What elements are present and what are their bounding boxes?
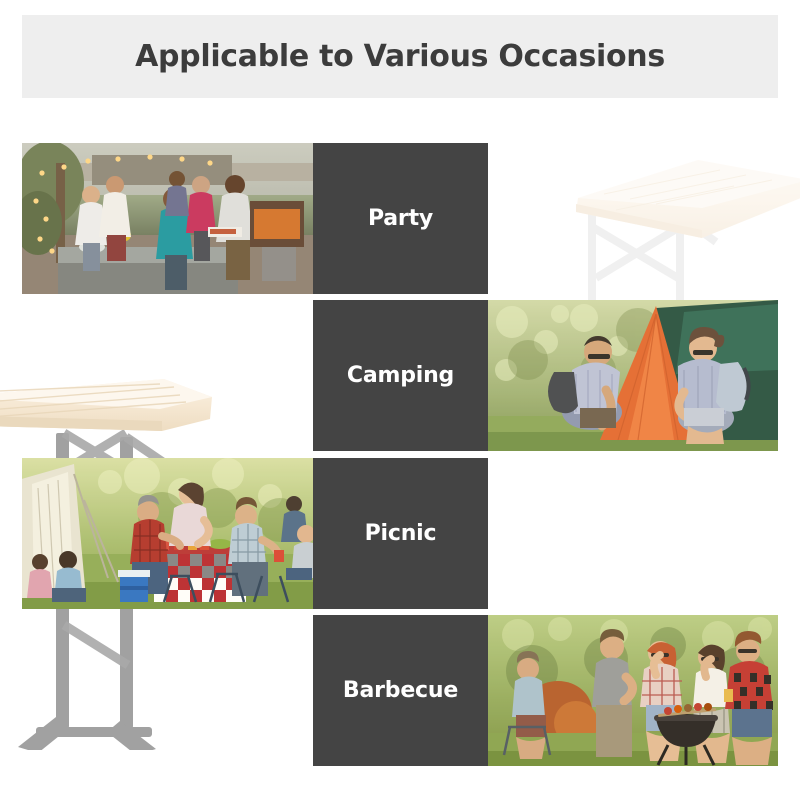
occasion-photo-party [22, 143, 313, 294]
page-title: Applicable to Various Occasions [135, 39, 665, 74]
product-feature-panel: Applicable to Various Occasions [0, 0, 800, 800]
folding-table-ghost-top-right [520, 150, 800, 320]
occasion-row-camping: Camping [313, 300, 778, 451]
occasion-label-panel-picnic: Picnic [313, 458, 488, 609]
occasion-row-barbecue: Barbecue [313, 615, 778, 766]
occasion-label-panel-camping: Camping [313, 300, 488, 451]
header-band: Applicable to Various Occasions [22, 15, 778, 98]
occasion-photo-camping [488, 300, 778, 451]
occasion-label-picnic: Picnic [365, 521, 437, 546]
occasion-row-picnic: Picnic [22, 458, 488, 609]
occasion-label-panel-barbecue: Barbecue [313, 615, 488, 766]
occasion-row-party: Party [22, 143, 488, 294]
occasion-label-panel-party: Party [313, 143, 488, 294]
occasion-photo-picnic [22, 458, 313, 609]
occasion-label-barbecue: Barbecue [343, 678, 458, 703]
occasion-label-camping: Camping [347, 363, 454, 388]
occasion-photo-barbecue [488, 615, 778, 766]
occasion-label-party: Party [368, 206, 433, 231]
